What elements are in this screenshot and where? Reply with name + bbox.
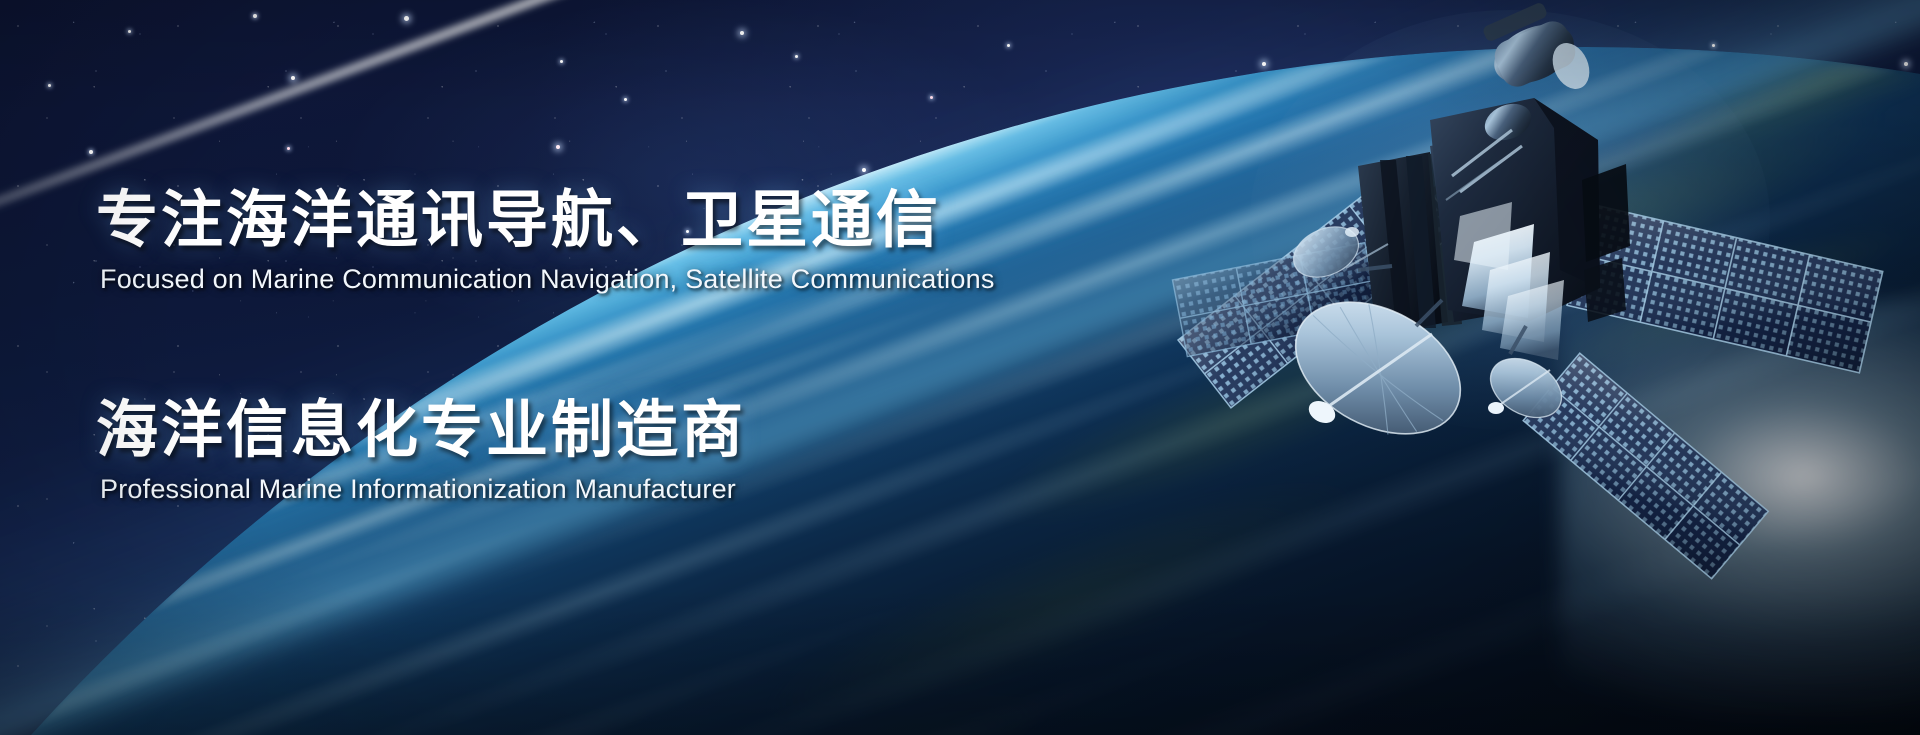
- star: [1904, 62, 1908, 66]
- star: [862, 168, 866, 172]
- star: [930, 96, 933, 99]
- star: [1712, 44, 1715, 47]
- star: [740, 31, 744, 35]
- star: [1007, 44, 1010, 47]
- star: [89, 150, 93, 154]
- star: [48, 84, 51, 87]
- star: [128, 30, 131, 33]
- star: [291, 76, 295, 80]
- headline-1-english: Focused on Marine Communication Navigati…: [100, 265, 995, 295]
- star: [404, 16, 409, 21]
- star: [253, 14, 257, 18]
- star: [556, 145, 560, 149]
- headline-2-english: Professional Marine Informationization M…: [100, 475, 746, 505]
- star: [795, 55, 798, 58]
- headline-1-chinese: 专注海洋通讯导航、卫星通信: [96, 188, 995, 253]
- hero-banner: 专注海洋通讯导航、卫星通信 Focused on Marine Communic…: [0, 0, 1920, 735]
- headline-block-2: 海洋信息化专业制造商 Professional Marine Informati…: [96, 398, 746, 505]
- star: [624, 98, 627, 101]
- star: [287, 147, 290, 150]
- star: [560, 60, 563, 63]
- headline-block-1: 专注海洋通讯导航、卫星通信 Focused on Marine Communic…: [96, 188, 995, 295]
- headline-2-chinese: 海洋信息化专业制造商: [96, 398, 746, 463]
